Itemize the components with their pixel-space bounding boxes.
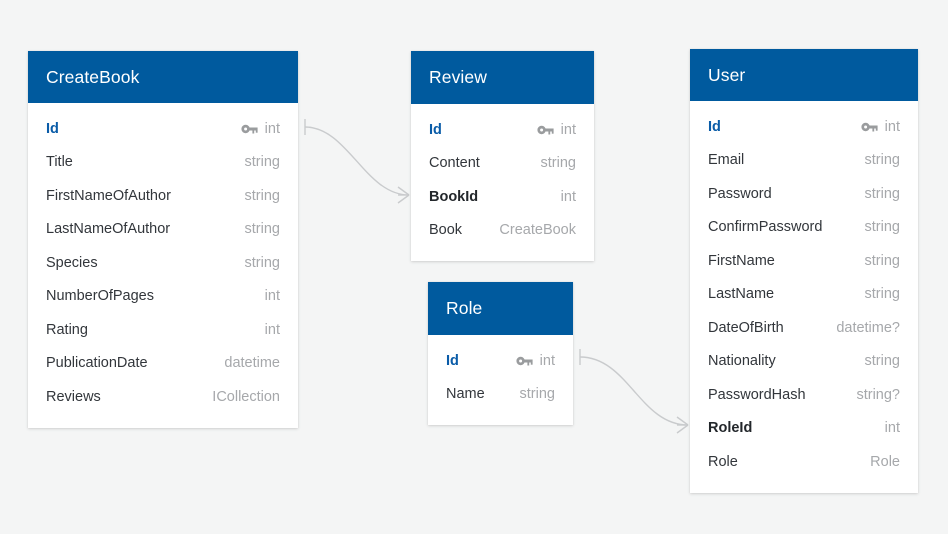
field-type: string — [865, 186, 900, 202]
field-row-review-book[interactable]: BookCreateBook — [411, 214, 594, 248]
field-row-createbook-numberofpages[interactable]: NumberOfPagesint — [28, 280, 298, 314]
field-name: DateOfBirth — [708, 320, 784, 336]
field-name: Id — [46, 121, 59, 137]
field-name: Rating — [46, 322, 88, 338]
field-row-review-bookid[interactable]: BookIdint — [411, 180, 594, 214]
field-row-user-id[interactable]: Idint — [690, 110, 918, 144]
field-row-role-name[interactable]: Namestring — [428, 378, 573, 412]
primary-key-icon — [537, 124, 554, 136]
field-name: Reviews — [46, 389, 101, 405]
field-name: LastNameOfAuthor — [46, 221, 170, 237]
entity-card-role[interactable]: Role IdintNamestring — [428, 282, 573, 425]
field-name: Name — [446, 386, 485, 402]
diagram-canvas: CreateBook IdintTitlestringFirstNameOfAu… — [0, 0, 948, 534]
field-name: Book — [429, 222, 462, 238]
field-name: PublicationDate — [46, 355, 148, 371]
field-row-user-role[interactable]: RoleRole — [690, 445, 918, 479]
field-name: PasswordHash — [708, 387, 806, 403]
field-row-user-nationality[interactable]: Nationalitystring — [690, 345, 918, 379]
field-name: LastName — [708, 286, 774, 302]
field-meta: datetime? — [836, 320, 900, 336]
field-meta: string — [865, 186, 900, 202]
field-meta: int — [561, 189, 576, 205]
field-type: int — [265, 322, 280, 338]
field-name: Content — [429, 155, 480, 171]
entity-field-list-createbook: IdintTitlestringFirstNameOfAuthorstringL… — [28, 103, 298, 428]
field-type: int — [885, 420, 900, 436]
cardinality-many-marker — [677, 417, 688, 433]
entity-title-createbook: CreateBook — [28, 51, 298, 103]
entity-field-list-user: IdintEmailstringPasswordstringConfirmPas… — [690, 101, 918, 493]
field-type: string — [245, 255, 280, 271]
field-meta: int — [885, 420, 900, 436]
entity-title-review: Review — [411, 51, 594, 104]
field-meta: string — [541, 155, 576, 171]
field-meta: int — [516, 353, 555, 369]
primary-key-icon — [861, 121, 878, 133]
field-row-user-firstname[interactable]: FirstNamestring — [690, 244, 918, 278]
primary-key-icon — [516, 355, 533, 367]
cardinality-many-marker — [398, 187, 409, 203]
field-name: FirstNameOfAuthor — [46, 188, 171, 204]
field-type: int — [885, 119, 900, 135]
field-meta: int — [265, 288, 280, 304]
field-meta: string — [865, 152, 900, 168]
field-row-createbook-id[interactable]: Idint — [28, 112, 298, 146]
field-type: string — [865, 353, 900, 369]
field-row-user-email[interactable]: Emailstring — [690, 144, 918, 178]
field-row-user-dateofbirth[interactable]: DateOfBirthdatetime? — [690, 311, 918, 345]
field-row-user-password[interactable]: Passwordstring — [690, 177, 918, 211]
field-name: ConfirmPassword — [708, 219, 822, 235]
field-meta: string — [865, 353, 900, 369]
relationship-line — [305, 127, 409, 195]
field-type: ICollection — [212, 389, 280, 405]
field-type: string — [541, 155, 576, 171]
field-name: BookId — [429, 189, 478, 205]
field-meta: string — [865, 253, 900, 269]
field-name: Email — [708, 152, 744, 168]
entity-title-role: Role — [428, 282, 573, 335]
field-type: int — [265, 121, 280, 137]
field-name: RoleId — [708, 420, 752, 436]
field-name: Id — [446, 353, 459, 369]
field-row-role-id[interactable]: Idint — [428, 344, 573, 378]
relationship-createbook-review — [305, 119, 409, 203]
field-name: Nationality — [708, 353, 776, 369]
entity-field-list-review: IdintContentstringBookIdintBookCreateBoo… — [411, 104, 594, 261]
field-row-createbook-title[interactable]: Titlestring — [28, 146, 298, 180]
field-row-review-id[interactable]: Idint — [411, 113, 594, 147]
field-type: string — [520, 386, 555, 402]
field-row-user-confirmpassword[interactable]: ConfirmPasswordstring — [690, 211, 918, 245]
field-meta: int — [861, 119, 900, 135]
relationship-role-user — [580, 349, 688, 433]
field-meta: string — [245, 154, 280, 170]
field-type: int — [561, 122, 576, 138]
field-name: Id — [708, 119, 721, 135]
field-name: FirstName — [708, 253, 775, 269]
field-row-createbook-reviews[interactable]: ReviewsICollection — [28, 380, 298, 414]
field-meta: string? — [856, 387, 900, 403]
field-type: string — [865, 152, 900, 168]
field-row-user-lastname[interactable]: LastNamestring — [690, 278, 918, 312]
field-type: CreateBook — [499, 222, 576, 238]
entity-title-user: User — [690, 49, 918, 101]
field-type: datetime — [224, 355, 280, 371]
field-meta: int — [265, 322, 280, 338]
field-type: int — [265, 288, 280, 304]
relationship-line — [580, 357, 688, 425]
entity-card-createbook[interactable]: CreateBook IdintTitlestringFirstNameOfAu… — [28, 51, 298, 428]
field-type: string — [245, 188, 280, 204]
field-name: Title — [46, 154, 73, 170]
field-meta: ICollection — [212, 389, 280, 405]
entity-card-user[interactable]: User IdintEmailstringPasswordstringConfi… — [690, 49, 918, 493]
field-meta: datetime — [224, 355, 280, 371]
field-type: string — [245, 154, 280, 170]
field-row-user-roleid[interactable]: RoleIdint — [690, 412, 918, 446]
field-meta: string — [245, 221, 280, 237]
field-row-createbook-firstnameofauthor[interactable]: FirstNameOfAuthorstring — [28, 179, 298, 213]
field-name: Species — [46, 255, 98, 271]
field-meta: string — [520, 386, 555, 402]
field-meta: string — [865, 286, 900, 302]
field-row-review-content[interactable]: Contentstring — [411, 147, 594, 181]
field-meta: int — [241, 121, 280, 137]
field-row-createbook-lastnameofauthor[interactable]: LastNameOfAuthorstring — [28, 213, 298, 247]
field-name: Role — [708, 454, 738, 470]
field-name: NumberOfPages — [46, 288, 154, 304]
field-type: string — [865, 253, 900, 269]
field-row-createbook-publicationdate[interactable]: PublicationDatedatetime — [28, 347, 298, 381]
field-type: int — [561, 189, 576, 205]
field-row-createbook-species[interactable]: Speciesstring — [28, 246, 298, 280]
field-type: string — [245, 221, 280, 237]
field-meta: CreateBook — [499, 222, 576, 238]
field-type: string — [865, 219, 900, 235]
field-meta: string — [245, 255, 280, 271]
field-type: string — [865, 286, 900, 302]
field-type: Role — [870, 454, 900, 470]
field-meta: string — [865, 219, 900, 235]
field-meta: string — [245, 188, 280, 204]
field-meta: Role — [870, 454, 900, 470]
entity-card-review[interactable]: Review IdintContentstringBookIdintBookCr… — [411, 51, 594, 261]
field-row-createbook-rating[interactable]: Ratingint — [28, 313, 298, 347]
field-name: Id — [429, 122, 442, 138]
entity-field-list-role: IdintNamestring — [428, 335, 573, 425]
field-row-user-passwordhash[interactable]: PasswordHashstring? — [690, 378, 918, 412]
field-type: datetime? — [836, 320, 900, 336]
field-type: int — [540, 353, 555, 369]
field-meta: int — [537, 122, 576, 138]
field-type: string? — [856, 387, 900, 403]
primary-key-icon — [241, 123, 258, 135]
field-name: Password — [708, 186, 772, 202]
